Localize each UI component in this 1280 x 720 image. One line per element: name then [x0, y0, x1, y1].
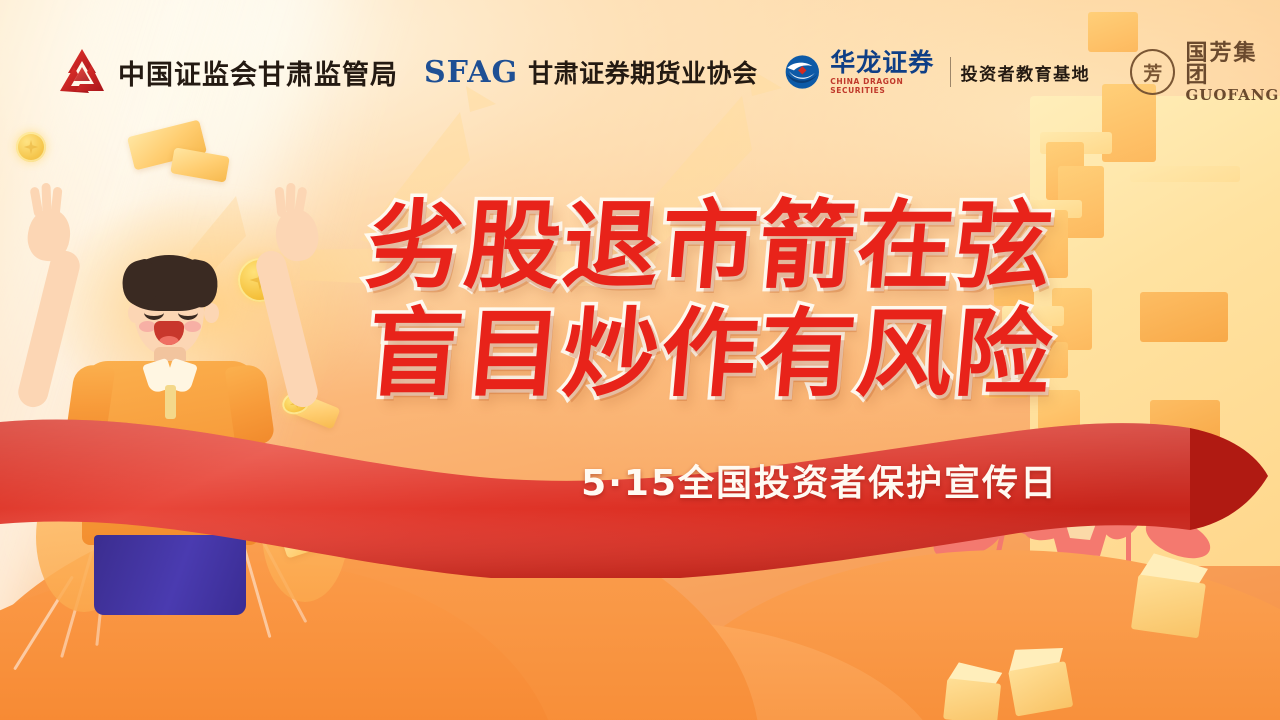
- logo-sfag: SFAG 甘肃证券期货业协会: [424, 54, 758, 90]
- logo-guofang-label: 国芳集团: [1185, 42, 1280, 86]
- logo-divider: [950, 57, 951, 87]
- headline-block: 劣股退市箭在弦 盲目炒作有风险: [330, 196, 1090, 406]
- investor-protection-poster: 5·15全国投资者保护宣传日 劣股退市箭在弦 盲目炒作有风险: [0, 0, 1280, 720]
- character-eye: [144, 305, 164, 320]
- logo-sfag-abbr: SFAG: [424, 55, 518, 90]
- foreground-hill-center: [330, 620, 950, 720]
- gold-cube: [943, 661, 1003, 720]
- guofang-seal-icon: 芳: [1130, 49, 1175, 95]
- logo-csrc-gansu-label: 中国证监会甘肃监管局: [118, 53, 398, 92]
- logo-dragon-en: CHINA DRAGON SECURITIES: [830, 77, 939, 95]
- logo-dragon-brand: 华龙证券: [830, 50, 934, 75]
- character-cheek: [184, 321, 201, 332]
- guofang-seal-glyph: 芳: [1143, 59, 1162, 86]
- logo-china-dragon-securities: 华龙证券 CHINA DRAGON SECURITIES 投资者教育基地: [784, 50, 1090, 95]
- sponsor-logo-bar: 中国证监会甘肃监管局 SFAG 甘肃证券期货业协会 华龙证券 CHINA DRA…: [0, 40, 1280, 104]
- logo-csrc-gansu: 中国证监会甘肃监管局: [56, 47, 398, 97]
- logo-dragon-sub-label: 投资者教育基地: [961, 60, 1091, 85]
- logo-sfag-label: 甘肃证券期货业协会: [528, 54, 758, 90]
- headline-line-1: 劣股退市箭在弦: [326, 196, 1095, 298]
- finger: [41, 183, 51, 213]
- gold-coin: [16, 132, 46, 162]
- gold-cube: [1005, 641, 1074, 716]
- red-ribbon-banner: 5·15全国投资者保护宣传日: [0, 398, 1280, 578]
- gold-ingot: [127, 120, 207, 171]
- character-eye: [178, 305, 198, 320]
- ribbon-slogan: 5·15全国投资者保护宣传日: [0, 454, 1280, 506]
- logo-guofang-group: 芳 国芳集团 GUOFANG: [1130, 42, 1280, 103]
- logo-guofang-en: GUOFANG: [1185, 88, 1280, 103]
- finger: [274, 187, 286, 218]
- csrc-triangle-icon: [56, 47, 108, 97]
- headline-line-2: 盲目炒作有风险: [326, 304, 1095, 406]
- dragon-wave-icon: [784, 51, 821, 93]
